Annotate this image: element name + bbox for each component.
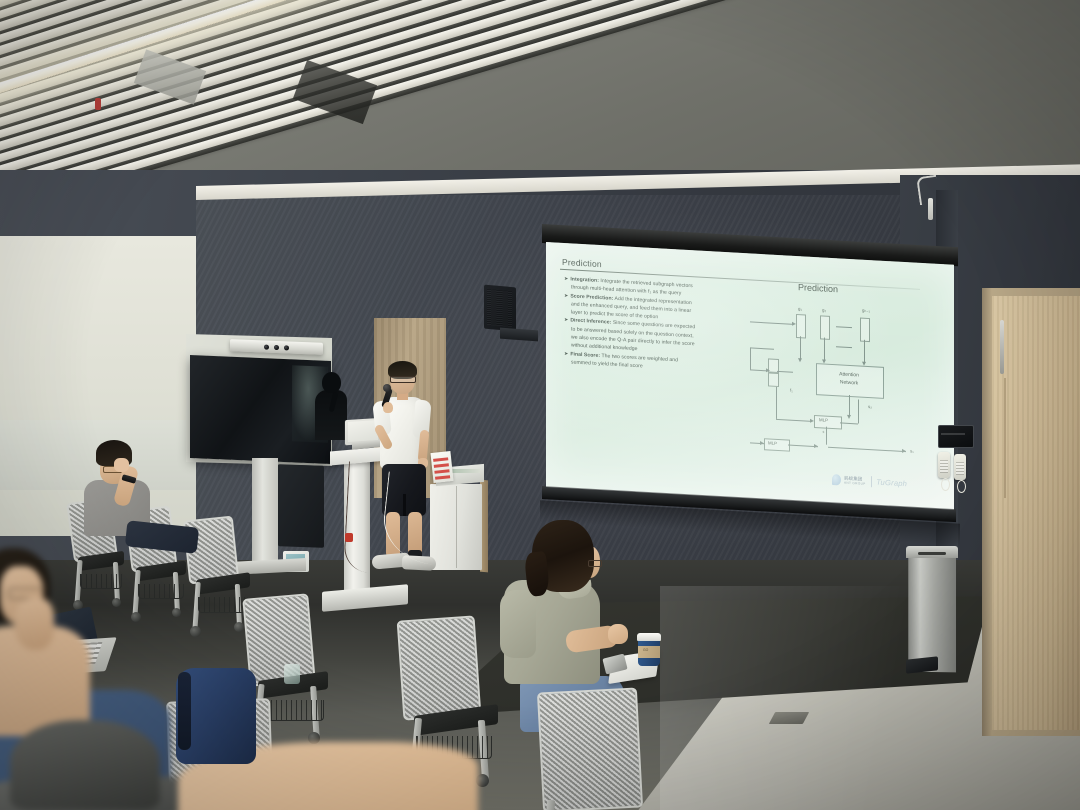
foreground-attendee-2-head bbox=[10, 720, 160, 810]
foreground-attendee-hand bbox=[14, 598, 54, 650]
conference-room-photo: Prediction ➤Integration: Integrate the r… bbox=[0, 0, 1080, 810]
foreground-attendees bbox=[0, 0, 1080, 810]
water-bottle bbox=[284, 664, 300, 684]
backpack-strap bbox=[178, 672, 191, 750]
